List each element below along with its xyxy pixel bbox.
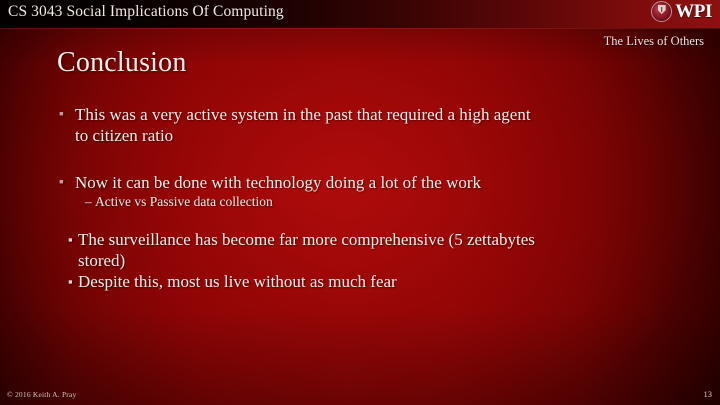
bullet-marker-icon: ▪ (59, 104, 64, 125)
bullet-marker-icon: ▪ (68, 229, 73, 250)
slide-title: Conclusion (57, 47, 187, 79)
wpi-seal-icon (651, 1, 672, 22)
bullet-marker-icon: ▪ (59, 172, 64, 193)
slide-number: 13 (704, 389, 713, 399)
deck-subtitle: The Lives of Others (604, 34, 704, 49)
bullet-text: This was a very active system in the pas… (75, 105, 531, 145)
copyright-notice: © 2016 Keith A. Pray (7, 390, 77, 399)
slide-header-bar: CS 3043 Social Implications Of Computing… (0, 0, 720, 28)
bullet-text: The surveillance has become far more com… (78, 230, 535, 270)
bullet-item: ▪ This was a very active system in the p… (0, 104, 545, 146)
spacer (0, 211, 720, 229)
sub-bullet-marker-icon: – (85, 193, 92, 211)
bullet-marker-icon: ▪ (68, 271, 73, 292)
spacer (0, 146, 720, 172)
presentation-slide: CS 3043 Social Implications Of Computing… (0, 0, 720, 405)
sub-bullet-text: Active vs Passive data collection (95, 194, 273, 209)
bullet-item: ▪ Despite this, most us live without as … (0, 271, 548, 292)
bullet-item: ▪ The surveillance has become far more c… (0, 229, 548, 271)
wpi-logo-text: WPI (675, 2, 712, 22)
course-title: CS 3043 Social Implications Of Computing (8, 3, 284, 21)
sub-bullet-item: – Active vs Passive data collection (0, 193, 720, 211)
bullet-item: ▪ Now it can be done with technology doi… (0, 172, 545, 193)
wpi-logo: WPI (651, 1, 712, 22)
slide-body: ▪ This was a very active system in the p… (0, 104, 720, 292)
bullet-text: Despite this, most us live without as mu… (78, 272, 397, 291)
bullet-text: Now it can be done with technology doing… (75, 173, 481, 192)
